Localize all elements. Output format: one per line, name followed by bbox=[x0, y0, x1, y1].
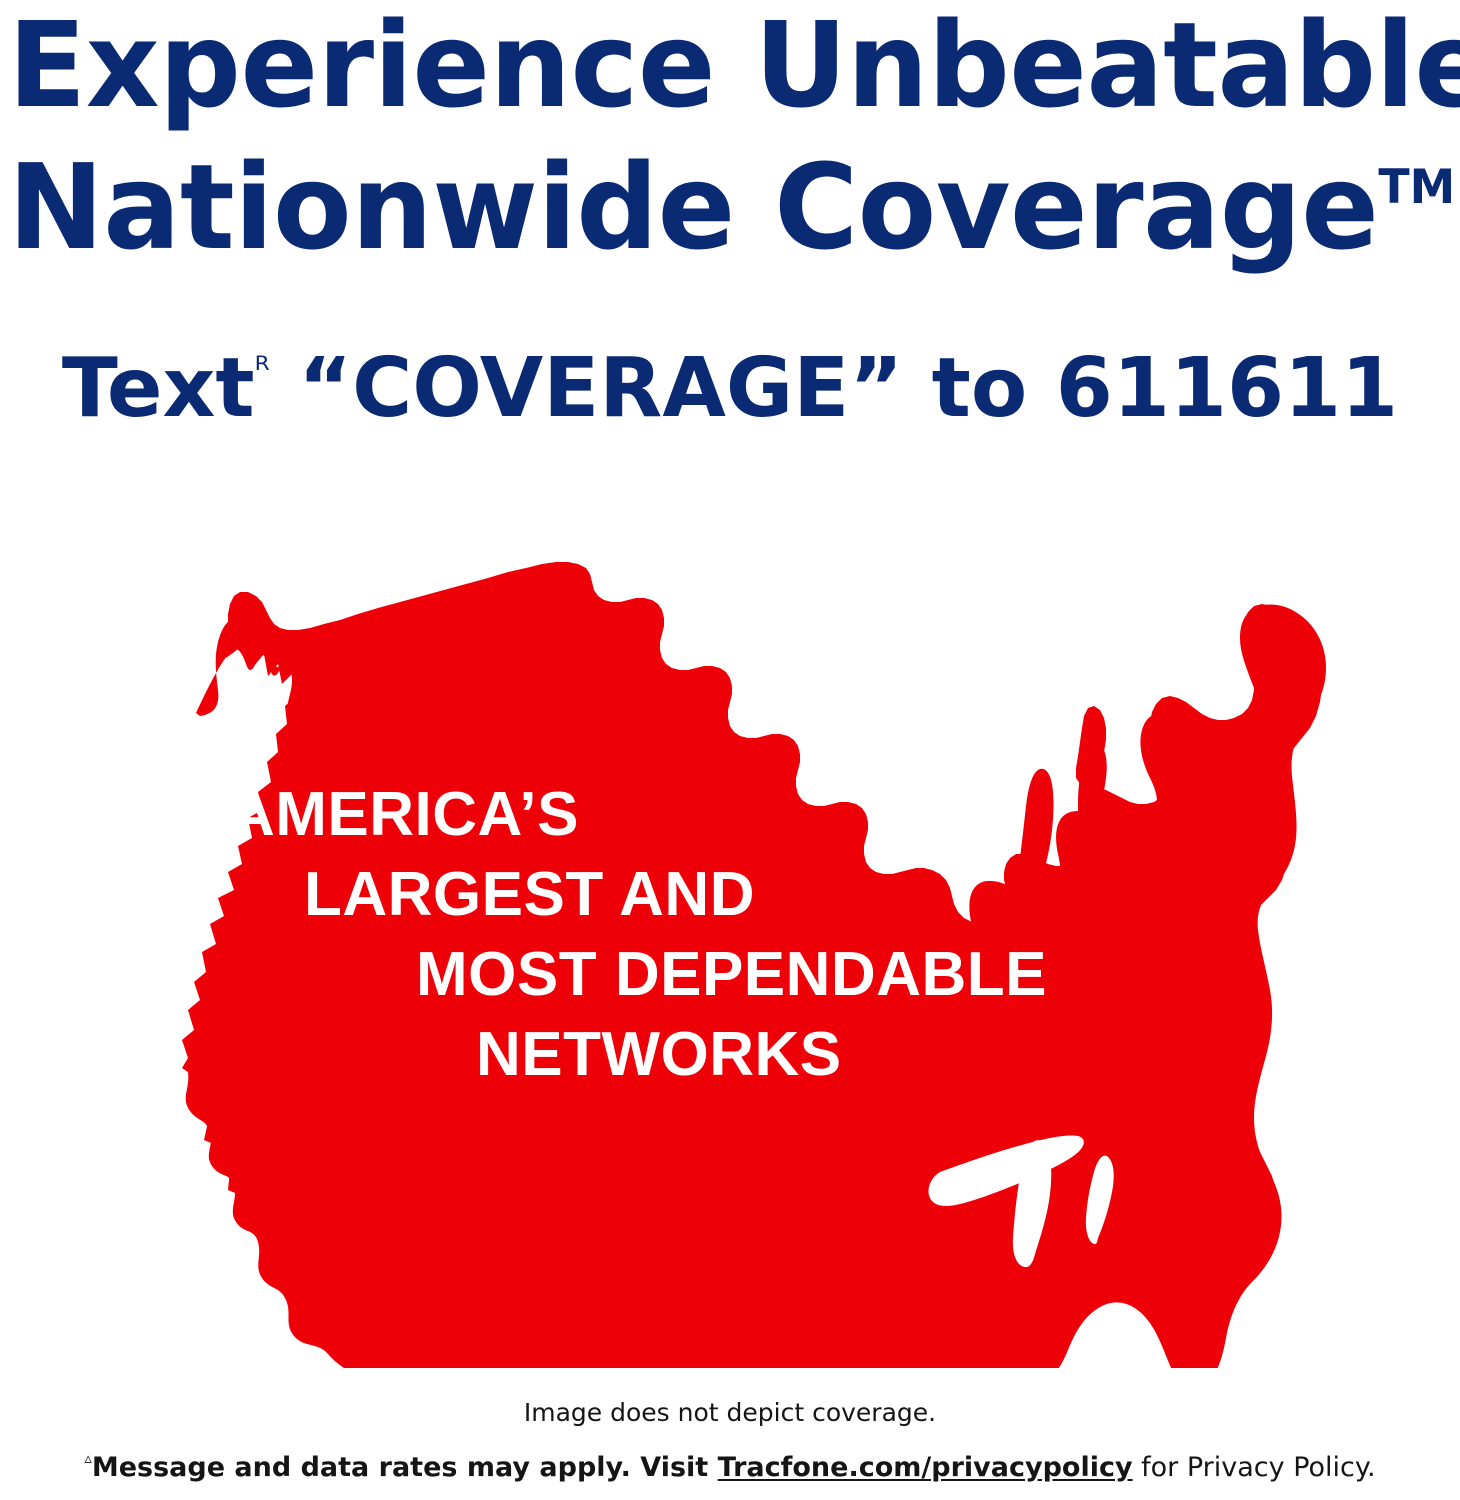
privacy-policy-link[interactable]: Tracfone.com/privacypolicy bbox=[718, 1452, 1133, 1483]
sms-callout-space-3 bbox=[1027, 341, 1056, 436]
legal-footnote-after-link: for Privacy Policy. bbox=[1133, 1452, 1376, 1483]
advertisement-root: Experience Unbeatable Nationwide Coverag… bbox=[0, 0, 1460, 1500]
sms-callout-keyword: “COVERAGE” bbox=[298, 341, 903, 436]
headline-line-2: Nationwide CoverageTM bbox=[8, 148, 1409, 266]
legal-footnote: ▵Message and data rates may apply. Visit… bbox=[0, 1452, 1460, 1483]
sms-shortcode: 611611 bbox=[1056, 341, 1398, 436]
trademark-symbol: TM bbox=[1378, 160, 1455, 215]
sms-callout: Textᴿ “COVERAGE” to 611611 bbox=[0, 348, 1460, 430]
legal-footnote-before-link: Message and data rates may apply. Visit bbox=[92, 1452, 718, 1483]
image-disclaimer-text: Image does not depict coverage. bbox=[0, 1398, 1460, 1427]
us-silhouette bbox=[186, 605, 1326, 1369]
footnote-marker-triangle-icon-bottom: ▵ bbox=[84, 1449, 91, 1467]
headline-line-2-text: Nationwide Coverage bbox=[8, 138, 1378, 276]
sms-callout-space-2 bbox=[903, 341, 932, 436]
sms-callout-space-1 bbox=[270, 341, 299, 436]
us-map-svg bbox=[78, 548, 1348, 1368]
sms-callout-prefix: Text bbox=[62, 341, 255, 436]
coverage-map: AMERICA’S LARGEST AND MOST DEPENDABLE NE… bbox=[78, 548, 1348, 1368]
sms-callout-connector: to bbox=[932, 341, 1028, 436]
us-map-render-group bbox=[186, 605, 1326, 1369]
headline-line-1: Experience Unbeatable bbox=[8, 6, 1409, 124]
footnote-marker-triangle-icon: ᴿ bbox=[255, 350, 270, 390]
